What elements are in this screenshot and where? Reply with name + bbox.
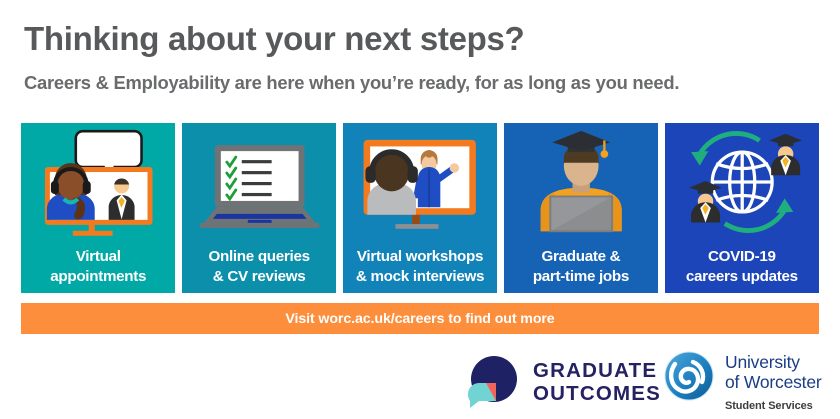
university-of-worcester-wordmark: University of Worcester Student Services bbox=[725, 350, 821, 412]
service-card-row: Virtual appointments bbox=[21, 123, 819, 293]
cta-label: Visit worc.ac.uk/careers to find out mor… bbox=[285, 311, 554, 327]
online-workshop-icon bbox=[343, 123, 497, 241]
go-line-2: OUTCOMES bbox=[533, 383, 661, 406]
label-line-2: careers updates bbox=[669, 267, 815, 286]
service-card-online-queries[interactable]: Online queries & CV reviews bbox=[182, 123, 336, 293]
uw-line-2: of Worcester bbox=[725, 373, 821, 393]
graduate-outcomes-mark bbox=[462, 354, 522, 412]
uw-line-1: University bbox=[725, 353, 821, 373]
go-line-1: GRADUATE bbox=[533, 360, 661, 383]
video-call-icon bbox=[21, 123, 175, 241]
service-card-virtual-workshops[interactable]: Virtual workshops & mock interviews bbox=[343, 123, 497, 293]
graduate-outcomes-logo: GRADUATE OUTCOMES bbox=[462, 354, 661, 412]
label-line-2: appointments bbox=[25, 267, 171, 286]
laptop-checklist-icon bbox=[182, 123, 336, 241]
service-card-label: Online queries & CV reviews bbox=[182, 247, 336, 293]
label-line-1: Graduate & bbox=[508, 247, 654, 266]
university-of-worcester-mark bbox=[662, 350, 716, 406]
cta-bar[interactable]: Visit worc.ac.uk/careers to find out mor… bbox=[21, 303, 819, 334]
label-line-2: & mock interviews bbox=[347, 267, 493, 286]
university-of-worcester-logo: University of Worcester Student Services bbox=[662, 350, 821, 412]
uw-subtitle: Student Services bbox=[725, 400, 821, 412]
label-line-1: Virtual workshops bbox=[347, 247, 493, 266]
logo-row: GRADUATE OUTCOMES bbox=[0, 346, 840, 419]
page-title: Thinking about your next steps? bbox=[24, 20, 524, 58]
label-line-2: & CV reviews bbox=[186, 267, 332, 286]
page-subtitle: Careers & Employability are here when yo… bbox=[24, 72, 679, 94]
service-card-label: COVID-19 careers updates bbox=[665, 247, 819, 293]
service-card-covid-updates[interactable]: COVID-19 careers updates bbox=[665, 123, 819, 293]
label-line-1: Virtual bbox=[25, 247, 171, 266]
label-line-2: part-time jobs bbox=[508, 267, 654, 286]
service-card-label: Graduate & part-time jobs bbox=[504, 247, 658, 293]
label-line-1: COVID-19 bbox=[669, 247, 815, 266]
service-card-label: Virtual workshops & mock interviews bbox=[343, 247, 497, 293]
globe-graduates-icon bbox=[665, 123, 819, 241]
careers-banner: Thinking about your next steps? Careers … bbox=[0, 0, 840, 419]
graduate-laptop-icon bbox=[504, 123, 658, 241]
service-card-virtual-appointments[interactable]: Virtual appointments bbox=[21, 123, 175, 293]
graduate-outcomes-wordmark: GRADUATE OUTCOMES bbox=[533, 360, 661, 406]
service-card-label: Virtual appointments bbox=[21, 247, 175, 293]
service-card-graduate-jobs[interactable]: Graduate & part-time jobs bbox=[504, 123, 658, 293]
label-line-1: Online queries bbox=[186, 247, 332, 266]
